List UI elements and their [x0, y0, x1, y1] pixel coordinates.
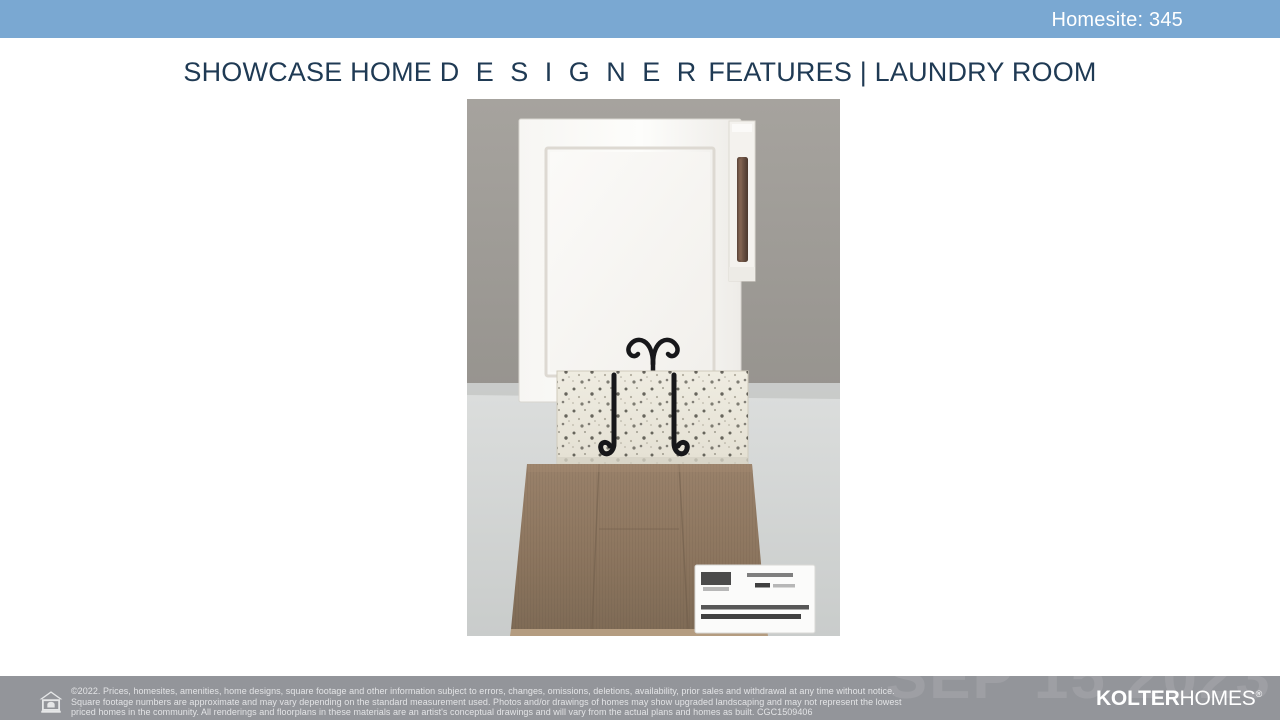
flooring-sample-label [695, 565, 815, 633]
feature-photo-illustration [467, 99, 840, 636]
homesite-label: Homesite: 345 [1051, 9, 1183, 32]
disclaimer-line-3: priced homes in the community. All rende… [71, 707, 1131, 718]
logo-kolter: KOLTER [1096, 687, 1180, 710]
equal-housing-opportunity-icon [38, 688, 64, 714]
logo-registered-mark: ® [1256, 689, 1262, 699]
page-title-part1: SHOWCASE HOME [183, 57, 439, 87]
page-title: SHOWCASE HOME D E S I G N E R FEATURES |… [0, 57, 1280, 88]
disclaimer-line-2: Square footage numbers are approximate a… [71, 697, 1131, 708]
page-title-part2: FEATURES | LAUNDRY ROOM [701, 57, 1097, 87]
logo-homes: HOMES [1180, 687, 1256, 710]
page-title-designer: D E S I G N E R [440, 57, 701, 87]
footer-disclaimer: ©2022. Prices, homesites, amenities, hom… [71, 686, 1131, 718]
feature-photo [467, 99, 840, 636]
disclaimer-line-1: ©2022. Prices, homesites, amenities, hom… [71, 686, 1131, 697]
kolter-homes-logo: KOLTERHOMES® [1096, 687, 1262, 711]
